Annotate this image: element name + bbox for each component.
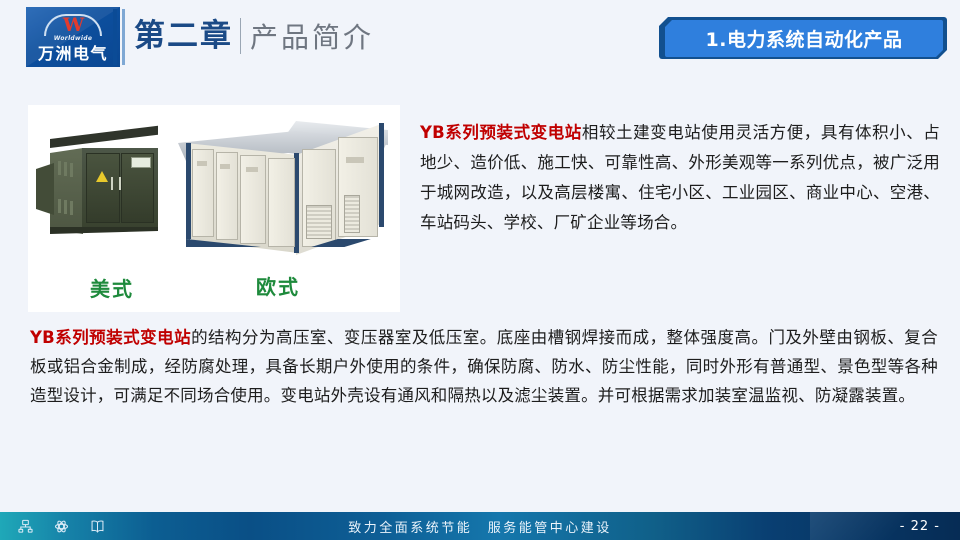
logo-letter: W — [44, 16, 102, 35]
logo-emblem-icon: W — [44, 12, 102, 36]
caption-european: 欧式 — [256, 271, 300, 300]
warning-triangle-icon — [96, 171, 108, 182]
right-paragraph-highlight: YB系列预装式变电站 — [420, 123, 582, 142]
footer-slogan: 致力全面系统节能 服务能管中心建设 — [0, 512, 960, 540]
banner-label: 1.电力系统自动化产品 — [665, 20, 943, 57]
bottom-paragraph-highlight: YB系列预装式变电站 — [30, 328, 191, 347]
page-title: 产品简介 — [250, 17, 374, 59]
european-substation-illustration — [178, 113, 388, 263]
caption-american: 美式 — [90, 273, 134, 302]
section-banner: 1.电力系统自动化产品 — [659, 17, 947, 59]
header-divider-dark — [113, 9, 117, 65]
slide-header: W Worldwide 万洲电气 第二章 产品简介 1.电力系统自动化产品 — [0, 0, 960, 78]
slide-footer: 致力全面系统节能 服务能管中心建设 - 22 - — [0, 512, 960, 540]
bottom-paragraph: YB系列预装式变电站的结构分为高压室、变压器室及低压室。底座由槽钢焊接而成，整体… — [30, 323, 938, 410]
header-divider-light — [122, 9, 125, 65]
product-photo: 美式 欧式 — [28, 105, 400, 312]
chapter-title: 第二章 — [134, 14, 233, 58]
company-logo[interactable]: W Worldwide 万洲电气 — [26, 7, 120, 67]
american-substation-illustration — [36, 139, 161, 239]
title-separator — [240, 18, 241, 54]
right-paragraph: YB系列预装式变电站相较土建变电站使用灵活方便，具有体积小、占地少、造价低、施工… — [420, 118, 940, 238]
page-number: - 22 - — [900, 512, 940, 540]
logo-latin-text: Worldwide — [26, 35, 120, 42]
logo-company-name: 万洲电气 — [26, 44, 120, 64]
